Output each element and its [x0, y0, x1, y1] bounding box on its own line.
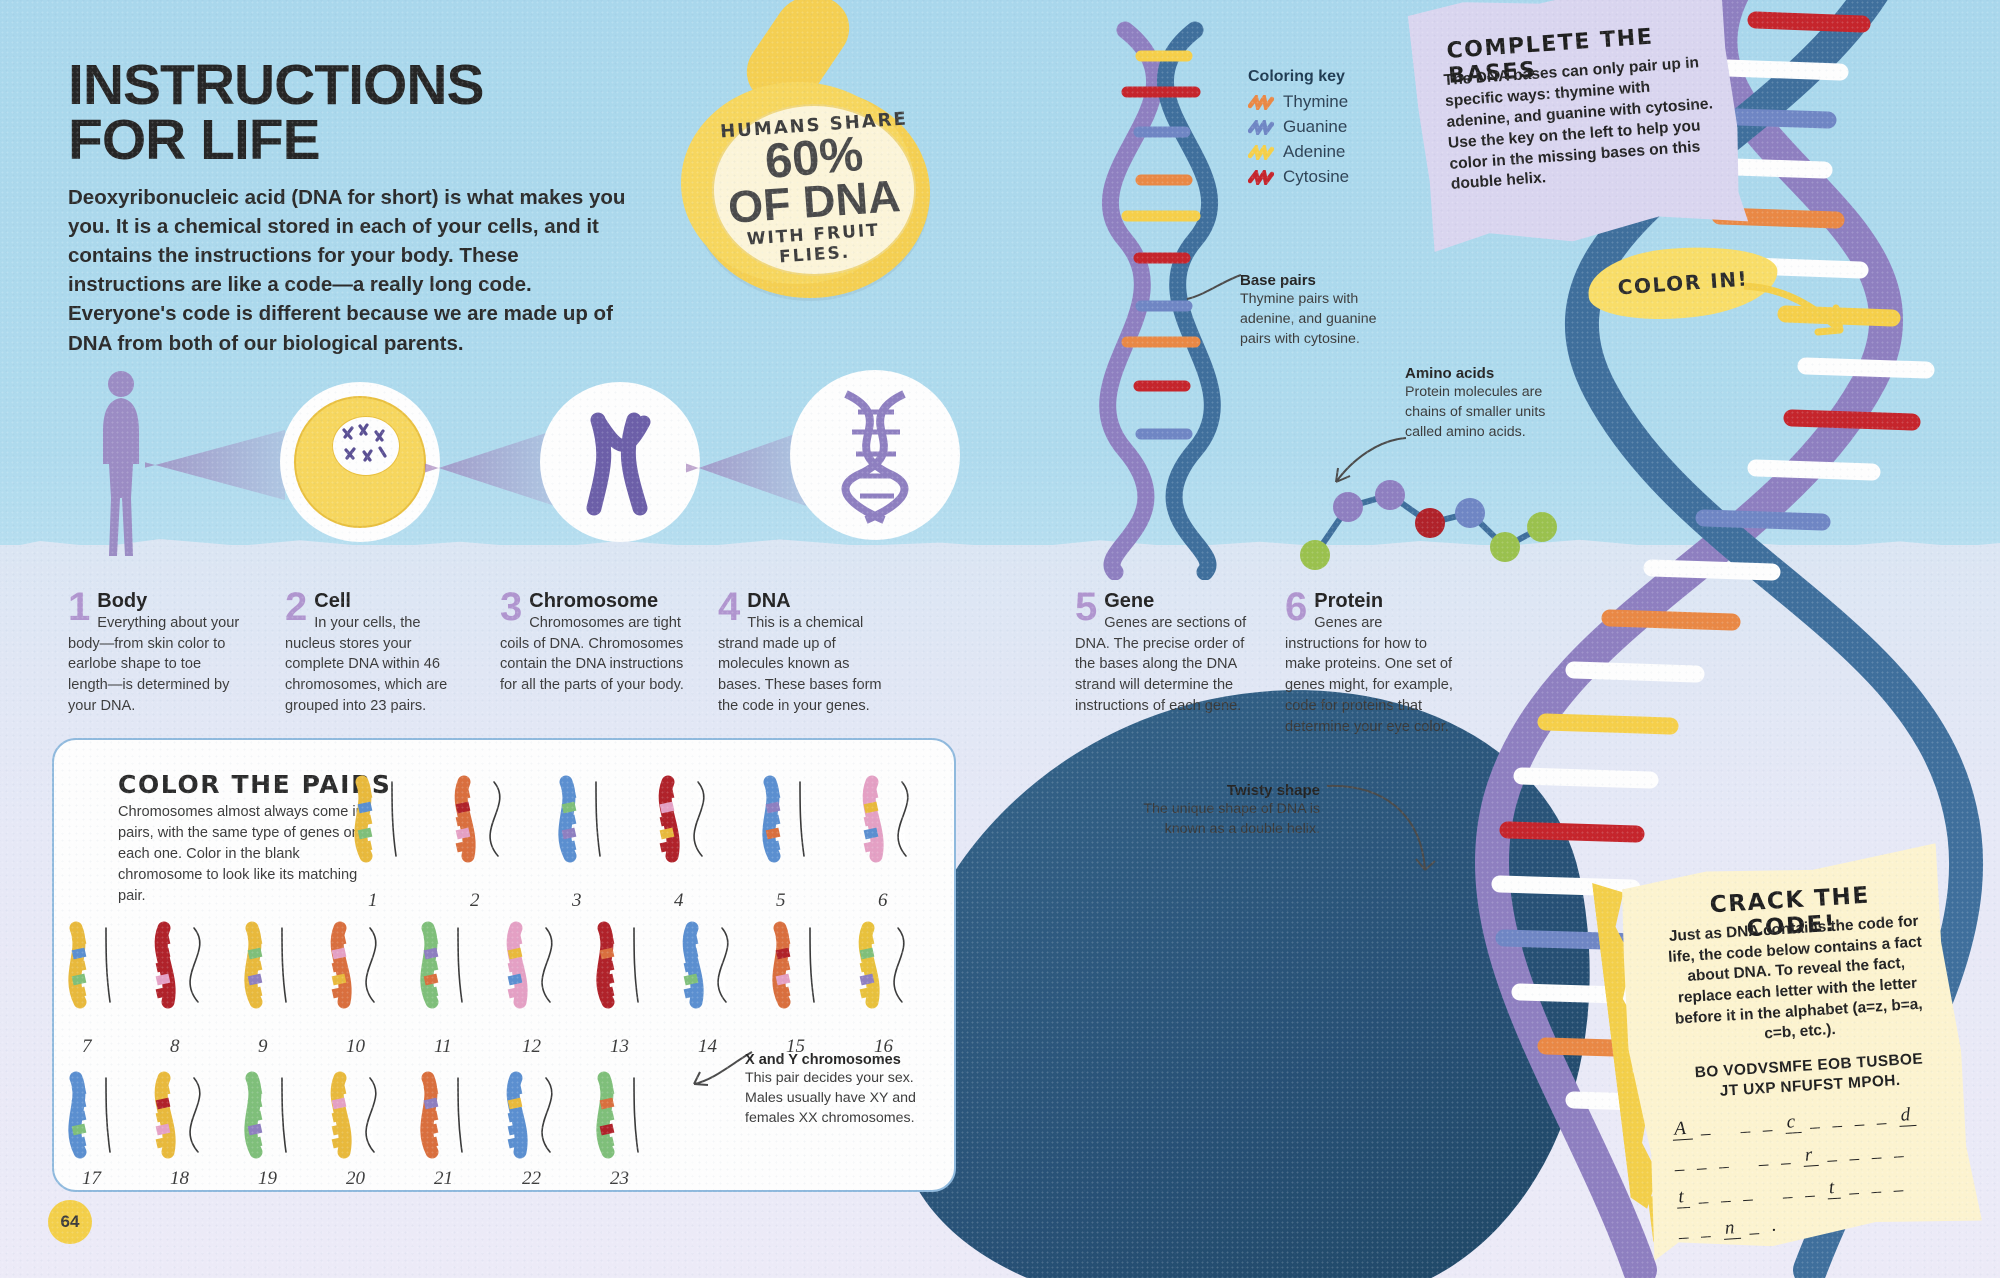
- blank-letter: t: [1826, 1177, 1841, 1200]
- chromosome-label: 20: [346, 1168, 365, 1190]
- chromosome-label: 21: [434, 1168, 453, 1190]
- page-title: INSTRUCTIONS FOR LIFE: [68, 58, 688, 167]
- chromosome-label: 5: [776, 890, 786, 912]
- key-item-thymine: Thymine: [1248, 92, 1418, 112]
- page-number: 64: [48, 1200, 92, 1244]
- human-body-illustration: [95, 368, 147, 558]
- step-title: DNA: [718, 590, 893, 613]
- chromosome-label: 10: [346, 1036, 365, 1058]
- step-1: 1 Body Everything about your body—from s…: [68, 590, 243, 717]
- intro-paragraph: Deoxyribonucleic acid (DNA for short) is…: [68, 183, 633, 358]
- blank-letter: n: [1722, 1217, 1741, 1240]
- key-label: Thymine: [1283, 92, 1348, 112]
- chromosome-label: 1: [368, 890, 378, 912]
- key-label: Adenine: [1283, 142, 1345, 162]
- page-title-line1: INSTRUCTIONS: [68, 58, 688, 113]
- annotation-body: The unique shape of DNA is known as a do…: [1130, 799, 1320, 839]
- step-title: Chromosome: [500, 590, 690, 613]
- infographic-page: 1 Body Everything about your body—from s…: [0, 0, 2000, 1278]
- key-item-adenine: Adenine: [1248, 142, 1418, 162]
- chromosome-label: 12: [522, 1036, 541, 1058]
- step-body: In your cells, the nucleus stores your c…: [285, 613, 460, 717]
- step-title: Cell: [285, 590, 460, 613]
- chromosome-label: 11: [434, 1036, 452, 1058]
- cell-circle: [280, 382, 440, 542]
- page-title-line2: FOR LIFE: [68, 113, 688, 168]
- guanine-swatch-icon: [1248, 120, 1274, 135]
- step-6: 6 Protein Genes are instructions for how…: [1285, 590, 1460, 737]
- color-in-arrow-icon: [1740, 282, 1860, 352]
- annotation-twisty-shape: Twisty shape The unique shape of DNA is …: [1130, 782, 1320, 839]
- color-in-label: COLOR IN!: [1617, 266, 1749, 299]
- step-body: Genes are instructions for how to make p…: [1285, 613, 1460, 737]
- cipher-text: BO VODVSMFE EOB TUSBOE JT UXP NFUFST MPO…: [1676, 1048, 1943, 1104]
- step-number: 2: [285, 592, 307, 623]
- annotation-title: Amino acids: [1405, 365, 1580, 382]
- base-pairs-leader-line: [1185, 265, 1245, 305]
- step-4: 4 DNA This is a chemical strand made up …: [718, 590, 893, 717]
- chromosome-label: 13: [610, 1036, 629, 1058]
- annotation-title: Base pairs: [1240, 272, 1380, 289]
- step-title: Gene: [1075, 590, 1250, 613]
- annotation-body: Thymine pairs with adenine, and guanine …: [1240, 289, 1380, 349]
- period: .: [1771, 1214, 1781, 1235]
- thymine-swatch-icon: [1248, 95, 1274, 110]
- adenine-swatch-icon: [1248, 145, 1274, 160]
- chromosome-label: 23: [610, 1168, 629, 1190]
- twisty-shape-leader-arrow: [1325, 778, 1445, 888]
- badge-face: HUMANS SHARE 60% OF DNA WITH FRUIT FLIES…: [712, 104, 916, 276]
- answer-row-3: t _ _ _ _ _ t _ _ _: [1676, 1169, 1967, 1209]
- chromosome-label: 17: [82, 1168, 101, 1190]
- chromosome-label: 3: [572, 890, 582, 912]
- crack-the-code-note: CRACK THE CODE! Just as DNA contains the…: [1608, 843, 1982, 1260]
- annotation-base-pairs: Base pairs Thymine pairs with adenine, a…: [1240, 272, 1380, 349]
- step-number: 5: [1075, 592, 1097, 623]
- annotation-xy-chromosomes: X and Y chromosomes This pair decides yo…: [745, 1052, 925, 1128]
- chromosome-label: 6: [878, 890, 888, 912]
- blank-letter: t: [1676, 1186, 1691, 1209]
- chromosome-label: 2: [470, 890, 480, 912]
- key-item-guanine: Guanine: [1248, 117, 1418, 137]
- coloring-key-title: Coloring key: [1248, 68, 1418, 86]
- chromosome-circle: [540, 382, 700, 542]
- note-body: The DNA bases can only pair up in specif…: [1443, 52, 1721, 196]
- key-label: Cytosine: [1283, 167, 1349, 187]
- chromosome-label: 18: [170, 1168, 189, 1190]
- step-body: This is a chemical strand made up of mol…: [718, 613, 893, 717]
- note-body: Just as DNA contains the code for life, …: [1656, 911, 1938, 1051]
- step-number: 6: [1285, 592, 1307, 623]
- amino-acids-leader-arrow: [1320, 432, 1410, 494]
- step-3: 3 Chromosome Chromosomes are tight coils…: [500, 590, 690, 696]
- answer-row-2: _ _ _ _ _ r _ _ _ _: [1674, 1135, 1965, 1175]
- key-item-cytosine: Cytosine: [1248, 167, 1418, 187]
- cytosine-swatch-icon: [1248, 170, 1274, 185]
- annotation-amino-acids: Amino acids Protein molecules are chains…: [1405, 365, 1580, 442]
- key-label: Guanine: [1283, 117, 1347, 137]
- dna-circle: [790, 370, 960, 540]
- complete-the-bases-note: COMPLETE THE BASES The DNA bases can onl…: [1407, 0, 1748, 257]
- chromosome-label: 4: [674, 890, 684, 912]
- annotation-title: Twisty shape: [1130, 782, 1320, 799]
- blank-letter: c: [1784, 1111, 1802, 1134]
- annotation-body: This pair decides your sex. Males usuall…: [745, 1068, 925, 1128]
- chromosome-label: 19: [258, 1168, 277, 1190]
- coloring-key: Coloring key Thymine Guanine Adenine Cyt…: [1248, 68, 1418, 192]
- step-5: 5 Gene Genes are sections of DNA. The pr…: [1075, 590, 1250, 717]
- step-body: Genes are sections of DNA. The precise o…: [1075, 613, 1250, 717]
- annotation-body: Protein molecules are chains of smaller …: [1405, 382, 1580, 442]
- step-body: Everything about your body—from skin col…: [68, 613, 243, 717]
- answer-row-1: A _ _ _ c _ _ _ _ d: [1672, 1101, 1963, 1141]
- blank-letter: d: [1898, 1104, 1917, 1127]
- step-number: 1: [68, 592, 90, 623]
- chromosome-label: 8: [170, 1036, 180, 1058]
- chromosome-label: 7: [82, 1036, 92, 1058]
- step-title: Protein: [1285, 590, 1460, 613]
- step-number: 4: [718, 592, 740, 623]
- step-number: 3: [500, 592, 522, 623]
- step-2: 2 Cell In your cells, the nucleus stores…: [285, 590, 460, 717]
- step-body: Chromosomes are tight coils of DNA. Chro…: [500, 613, 690, 696]
- fun-fact-badge: HUMANS SHARE 60% OF DNA WITH FRUIT FLIES…: [690, 88, 930, 298]
- blank-letter: A: [1672, 1118, 1693, 1141]
- chromosome-label: 9: [258, 1036, 268, 1058]
- chromosome-label: 22: [522, 1168, 541, 1190]
- step-title: Body: [68, 590, 243, 613]
- annotation-title: X and Y chromosomes: [745, 1052, 925, 1068]
- blank-letter: r: [1802, 1144, 1819, 1167]
